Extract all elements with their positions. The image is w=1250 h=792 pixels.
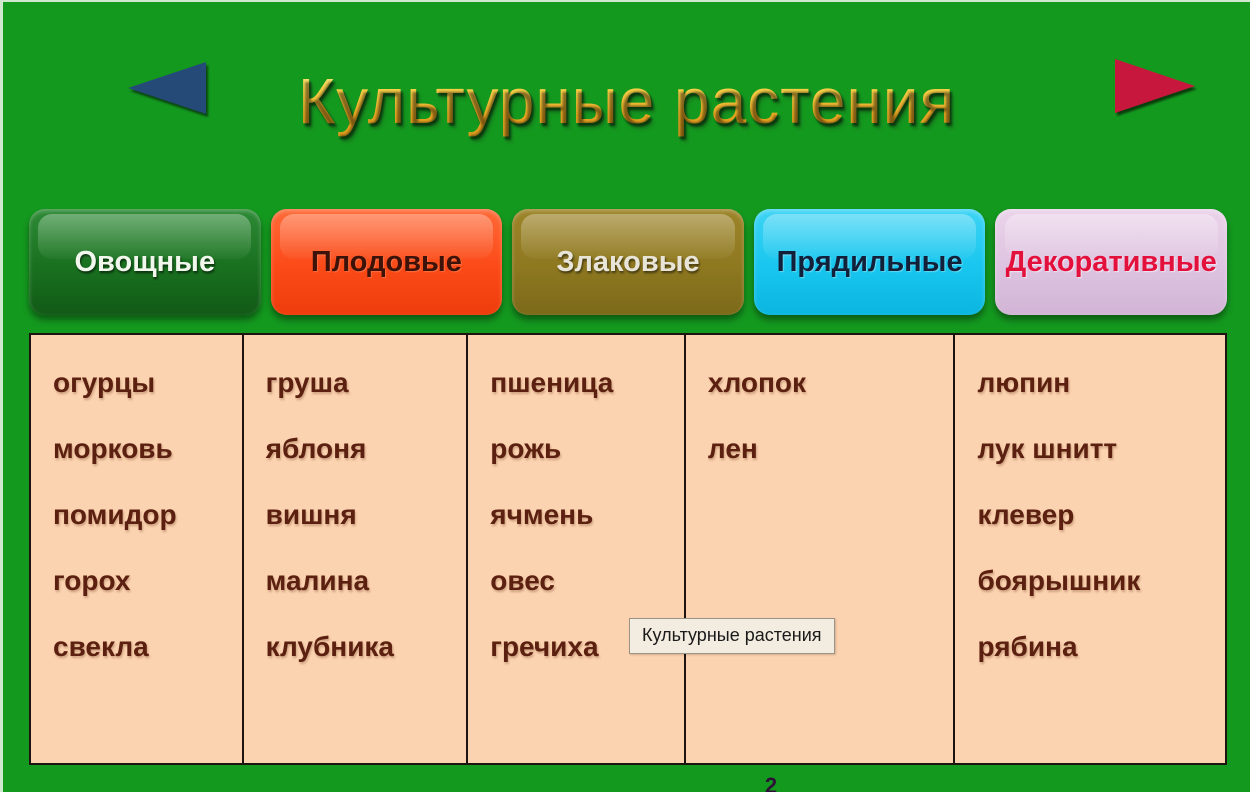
category-button-label: Злаковые (556, 246, 699, 279)
list-item: хлопок (708, 369, 954, 397)
category-button-bar: Овощные Плодовые Злаковые Прядильные Дек… (29, 209, 1227, 315)
category-button-fruits[interactable]: Плодовые (271, 209, 503, 315)
list-item: вишня (266, 501, 467, 529)
plant-column-cereals: пшеница рожь ячмень овес гречиха (468, 335, 686, 763)
page-number-marker: 2 (760, 774, 782, 792)
list-item: рябина (977, 633, 1225, 661)
plant-column-fruits: груша яблоня вишня малина клубника (244, 335, 469, 763)
category-button-fiber[interactable]: Прядильные (754, 209, 986, 315)
list-item: горох (53, 567, 242, 595)
list-item: лук шнитт (977, 435, 1225, 463)
list-item: боярышник (977, 567, 1225, 595)
list-item: ячмень (490, 501, 684, 529)
category-button-label: Прядильные (777, 246, 963, 279)
tooltip: Культурные растения (629, 618, 835, 654)
plant-table: огурцы морковь помидор горох свекла груш… (29, 333, 1227, 765)
category-button-vegetables[interactable]: Овощные (29, 209, 261, 315)
list-item: лен (708, 435, 954, 463)
list-item: клевер (977, 501, 1225, 529)
list-item: люпин (977, 369, 1225, 397)
category-button-ornamental[interactable]: Декоративные (995, 209, 1227, 315)
list-item: огурцы (53, 369, 242, 397)
plant-column-fiber: хлопок лен (686, 335, 956, 763)
list-item: клубника (266, 633, 467, 661)
list-item: пшеница (490, 369, 684, 397)
list-item: груша (266, 369, 467, 397)
category-button-label: Плодовые (311, 246, 462, 279)
list-item: малина (266, 567, 467, 595)
category-button-label: Овощные (74, 246, 215, 279)
plant-column-ornamental: люпин лук шнитт клевер боярышник рябина (955, 335, 1225, 763)
category-button-cereals[interactable]: Злаковые (512, 209, 744, 315)
list-item: свекла (53, 633, 242, 661)
slide-root: Культурные растения Овощные Плодовые Зла… (0, 0, 1250, 792)
list-item: рожь (490, 435, 684, 463)
list-item: морковь (53, 435, 242, 463)
list-item: овес (490, 567, 684, 595)
plant-column-vegetables: огурцы морковь помидор горох свекла (31, 335, 244, 763)
category-button-label: Декоративные (1006, 246, 1217, 279)
list-item: яблоня (266, 435, 467, 463)
page-title: Культурные растения (3, 64, 1250, 138)
list-item: помидор (53, 501, 242, 529)
